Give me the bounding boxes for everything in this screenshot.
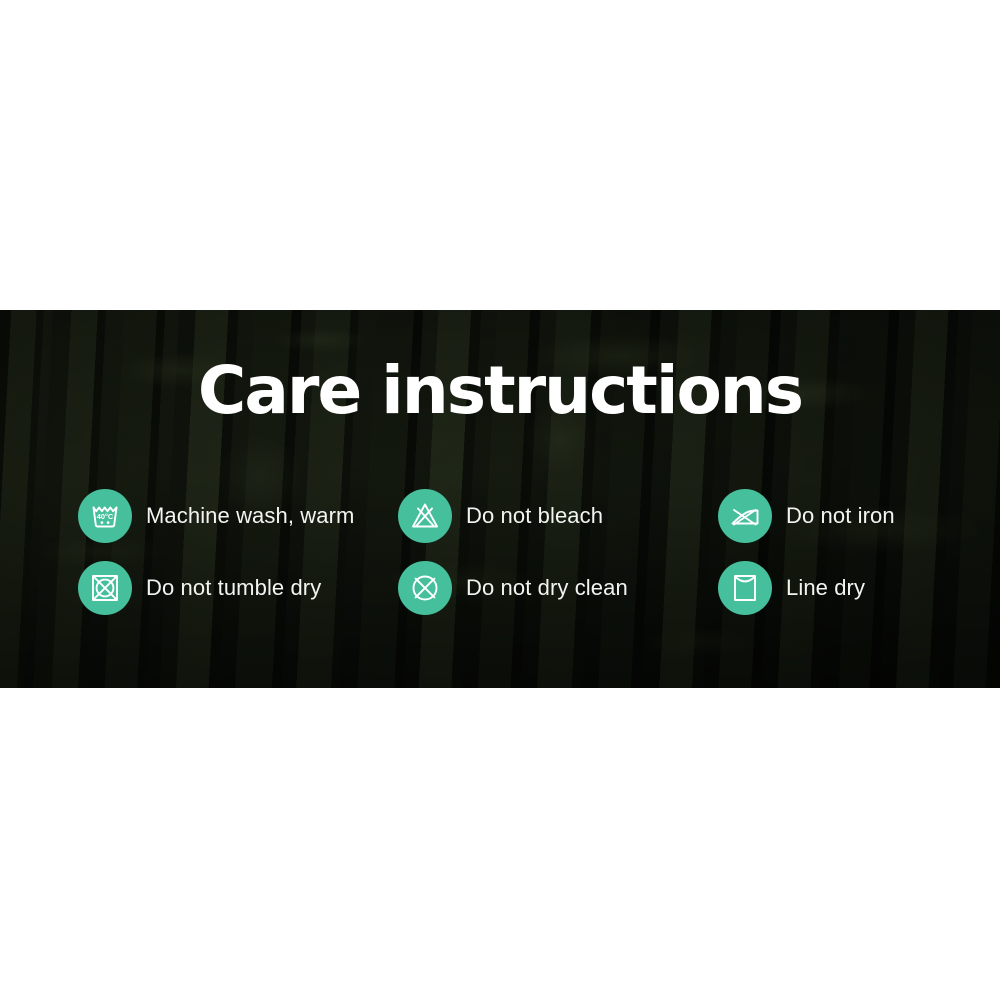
care-item-do-not-tumble-dry: Do not tumble dry — [78, 561, 398, 615]
care-item-machine-wash-warm: 40°C Machine wash, warm — [78, 489, 398, 543]
care-item-label: Do not dry clean — [466, 575, 628, 601]
svg-text:40°C: 40°C — [97, 512, 114, 521]
care-item-label: Line dry — [786, 575, 865, 601]
line-dry-icon — [718, 561, 772, 615]
machine-wash-warm-icon: 40°C — [78, 489, 132, 543]
care-item-label: Machine wash, warm — [146, 503, 354, 529]
care-item-do-not-dry-clean: Do not dry clean — [398, 561, 718, 615]
banner-content: Care instructions 40°C Machine wash, war… — [0, 310, 1000, 688]
care-symbol-grid: 40°C Machine wash, warm — [78, 480, 938, 624]
care-item-label: Do not tumble dry — [146, 575, 321, 601]
care-instructions-page: Care instructions 40°C Machine wash, war… — [0, 0, 1000, 1000]
care-item-label: Do not bleach — [466, 503, 603, 529]
do-not-iron-icon — [718, 489, 772, 543]
care-instructions-banner: Care instructions 40°C Machine wash, war… — [0, 310, 1000, 688]
page-title: Care instructions — [0, 358, 1000, 424]
do-not-dry-clean-icon — [398, 561, 452, 615]
do-not-bleach-icon — [398, 489, 452, 543]
care-item-label: Do not iron — [786, 503, 895, 529]
care-item-line-dry: Line dry — [718, 561, 1000, 615]
care-item-do-not-iron: Do not iron — [718, 489, 1000, 543]
care-item-do-not-bleach: Do not bleach — [398, 489, 718, 543]
do-not-tumble-dry-icon — [78, 561, 132, 615]
